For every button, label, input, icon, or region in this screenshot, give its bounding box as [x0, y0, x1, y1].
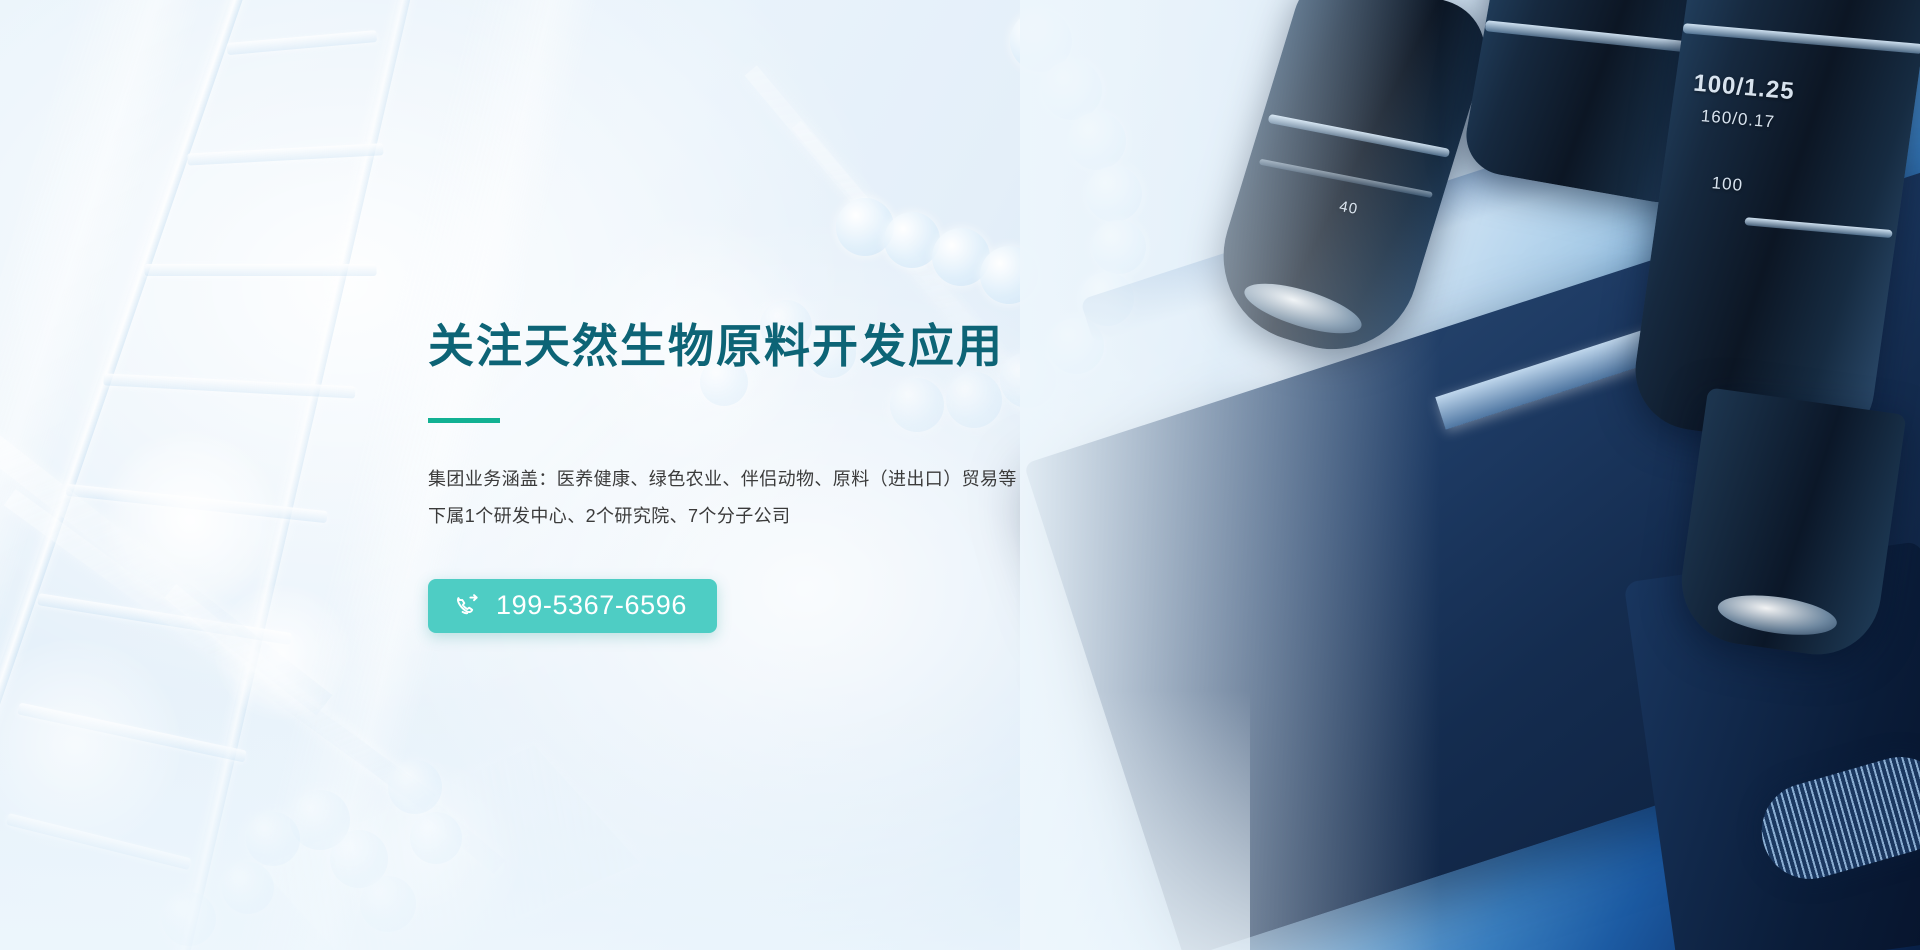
phone-number: 199-5367-6596 [496, 592, 687, 619]
objective-label-100: 100 [1711, 173, 1744, 196]
hero-banner: 40 100/1.25 160/0.17 100 关注天然生物原料开发应用 集 [0, 0, 1920, 950]
bottom-fade-overlay [0, 690, 1250, 950]
call-phone-button[interactable]: 199-5367-6596 [428, 579, 717, 633]
hero-content: 关注天然生物原料开发应用 集团业务涵盖：医养健康、绿色农业、伴侣动物、原料（进出… [428, 320, 1188, 633]
hero-description-line-1: 集团业务涵盖：医养健康、绿色农业、伴侣动物、原料（进出口）贸易等 [428, 461, 1188, 498]
objective-label-160-0-17: 160/0.17 [1700, 106, 1776, 132]
hero-description: 集团业务涵盖：医养健康、绿色农业、伴侣动物、原料（进出口）贸易等 下属1个研发中… [428, 461, 1188, 535]
hero-description-line-2: 下属1个研发中心、2个研究院、7个分子公司 [428, 498, 1188, 535]
objective-lens-tip [1674, 387, 1907, 662]
objective-label-100-1-25: 100/1.25 [1692, 70, 1795, 107]
phone-forward-icon [454, 592, 482, 620]
title-divider [428, 418, 500, 423]
page-title: 关注天然生物原料开发应用 [428, 320, 1188, 373]
